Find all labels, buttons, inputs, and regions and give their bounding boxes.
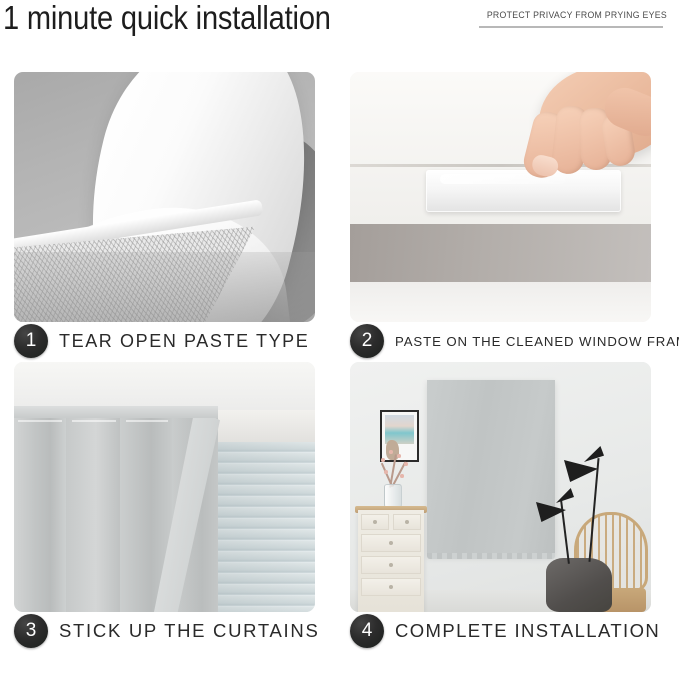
step-1-caption-row: 1 TEAR OPEN PASTE TYPE <box>14 324 309 358</box>
step-4-badge: 4 <box>350 614 384 648</box>
dresser-knob-4 <box>389 563 393 567</box>
tagline-text: PROTECT PRIVACY FROM PRYING EYES <box>487 10 667 21</box>
step-3-caption: STICK UP THE CURTAINS <box>59 620 319 642</box>
curtain-top-header <box>14 406 218 418</box>
blossom-1 <box>381 458 385 462</box>
curtain-stitch-2 <box>72 420 116 422</box>
page-title: 1 minute quick installation <box>3 0 331 37</box>
installed-blackout-curtain <box>427 380 555 556</box>
tagline-divider <box>479 26 663 28</box>
dresser-knob-3 <box>389 541 393 545</box>
blossom-6 <box>400 474 404 478</box>
step-2-caption-row: 2 PASTE ON THE CLEANED WINDOW FRAME <box>350 324 679 358</box>
curtain-panel-2 <box>66 406 120 612</box>
hand-illustration <box>500 72 651 191</box>
step-card-4: 4 COMPLETE INSTALLATION <box>350 362 651 637</box>
step-1-photo <box>14 72 315 322</box>
gray-window-band <box>350 224 651 282</box>
dresser-knob-5 <box>389 585 393 589</box>
curtain-stitch-3 <box>126 420 168 422</box>
step-card-1: 1 TEAR OPEN PASTE TYPE <box>14 72 315 347</box>
step-1-badge: 1 <box>14 324 48 358</box>
dresser-body <box>358 510 424 612</box>
step-2-photo <box>350 72 651 322</box>
step-card-3: 3 STICK UP THE CURTAINS <box>14 362 315 637</box>
ceiling-area <box>14 362 315 410</box>
dresser-knob-1 <box>373 520 377 524</box>
photo-bottom-shade <box>14 252 315 322</box>
blossom-5 <box>384 470 388 474</box>
step-2-badge: 2 <box>350 324 384 358</box>
tagline-block: PROTECT PRIVACY FROM PRYING EYES <box>479 10 675 28</box>
step-4-caption: COMPLETE INSTALLATION <box>395 620 660 642</box>
blossom-2 <box>389 450 393 454</box>
step-2-caption: PASTE ON THE CLEANED WINDOW FRAME <box>395 334 679 349</box>
window-sill <box>350 282 651 322</box>
blossom-3 <box>397 454 401 458</box>
blossom-4 <box>404 462 408 466</box>
dresser-knob-2 <box>405 520 409 524</box>
page-header: 1 minute quick installation PROTECT PRIV… <box>0 0 679 62</box>
step-3-caption-row: 3 STICK UP THE CURTAINS <box>14 614 319 648</box>
throw-blanket <box>546 558 612 612</box>
step-4-photo <box>350 362 651 612</box>
curtain-stitch-1 <box>18 420 62 422</box>
artwork-seascape <box>385 415 414 444</box>
curtain-panel-1 <box>14 406 66 612</box>
step-4-caption-row: 4 COMPLETE INSTALLATION <box>350 614 660 648</box>
step-1-caption: TEAR OPEN PASTE TYPE <box>59 331 309 352</box>
step-3-badge: 3 <box>14 614 48 648</box>
step-3-photo <box>14 362 315 612</box>
step-card-2: 2 PASTE ON THE CLEANED WINDOW FRAME <box>350 72 651 347</box>
